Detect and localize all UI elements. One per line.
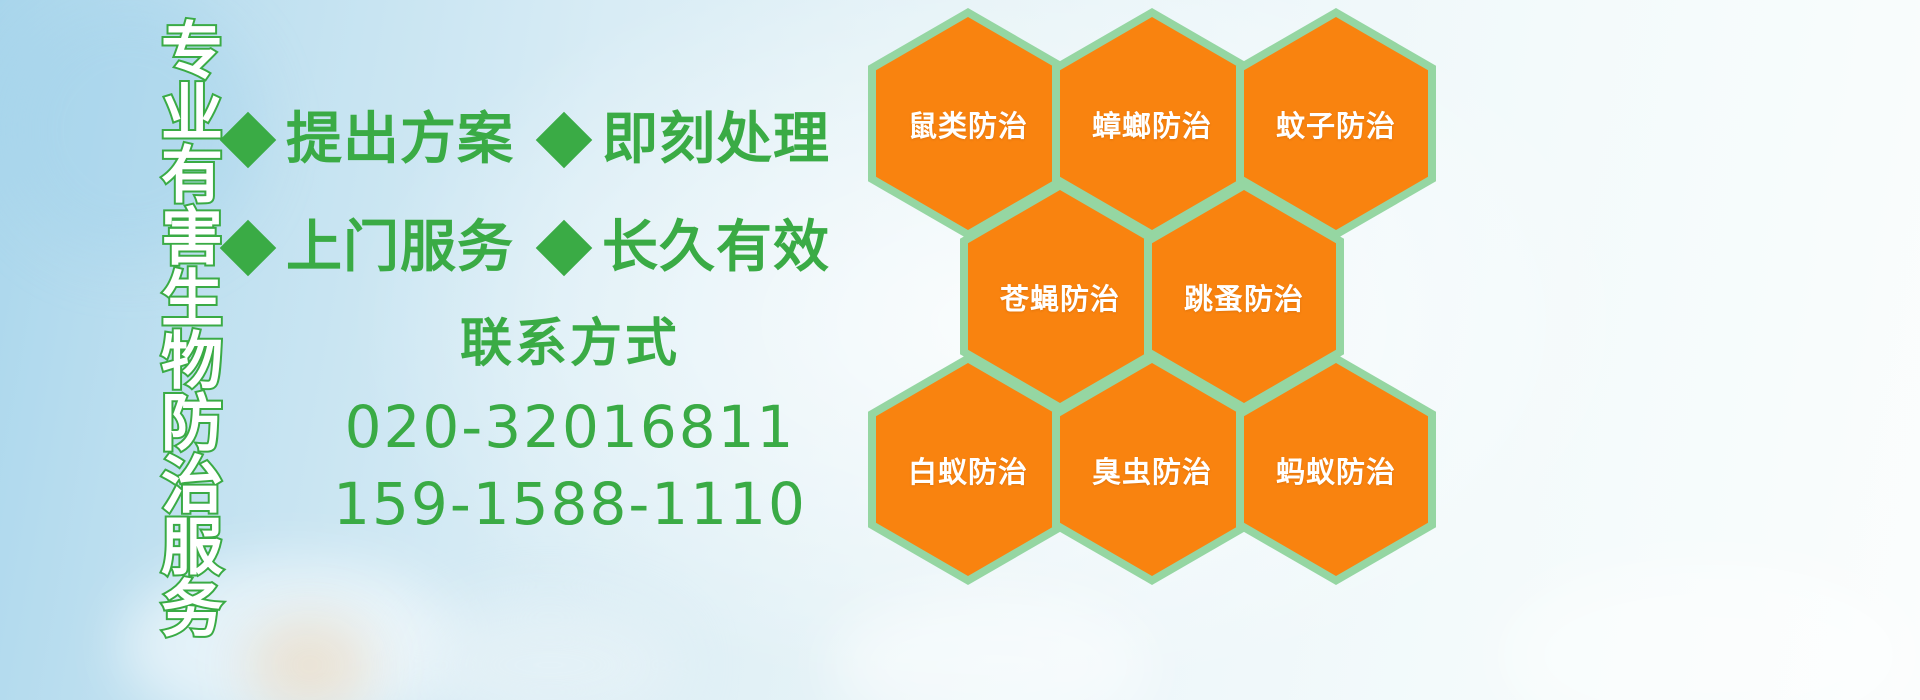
vertical-headline: 专业有害生物防治服务 — [110, 18, 218, 578]
hex-cell-bedbug-control[interactable]: 臭虫防治 — [1052, 354, 1252, 585]
feature-row: 上门服务 长久有效 — [228, 194, 868, 302]
diamond-icon — [536, 220, 593, 277]
hex-label: 跳蚤防治 — [1184, 276, 1304, 318]
feature-item-onsite-service: 上门服务 — [228, 220, 514, 276]
background-bokeh-blob — [250, 620, 370, 700]
feature-row: 提出方案 即刻处理 — [228, 86, 868, 194]
background-bokeh-blob — [1500, 560, 1920, 700]
contact-block: 联系方式 020-32016811 159-1588-1110 — [300, 316, 840, 542]
feature-label: 提出方案 — [286, 112, 514, 168]
feature-item-long-lasting: 长久有效 — [544, 220, 830, 276]
hex-label: 臭虫防治 — [1092, 449, 1212, 491]
background-bokeh-blob — [420, 600, 680, 700]
feature-list: 提出方案 即刻处理 上门服务 长久有效 — [228, 86, 868, 302]
hex-label: 蚂蚁防治 — [1276, 449, 1396, 491]
hex-label: 蟑螂防治 — [1092, 103, 1212, 145]
phone-number-landline[interactable]: 020-32016811 — [300, 389, 840, 466]
service-honeycomb-grid: 鼠类防治 蟑螂防治 蚊子防治 苍蝇防治 跳蚤防治 白蚁防治 — [860, 0, 1460, 566]
hex-cell-termite-control[interactable]: 白蚁防治 — [868, 354, 1068, 585]
feature-item-propose-plan: 提出方案 — [228, 112, 514, 168]
diamond-icon — [220, 220, 277, 277]
diamond-icon — [220, 112, 277, 169]
phone-number-mobile[interactable]: 159-1588-1110 — [300, 466, 840, 543]
feature-item-immediate-handling: 即刻处理 — [544, 112, 830, 168]
feature-label: 即刻处理 — [602, 112, 830, 168]
hex-label: 蚊子防治 — [1276, 103, 1396, 145]
hex-label: 鼠类防治 — [908, 103, 1028, 145]
feature-label: 长久有效 — [602, 220, 830, 276]
hex-cell-ant-control[interactable]: 蚂蚁防治 — [1236, 354, 1436, 585]
background-bokeh-blob — [830, 590, 1150, 700]
diamond-icon — [536, 112, 593, 169]
pest-control-banner: 专业有害生物防治服务 提出方案 即刻处理 上门服务 长久有效 联系方式 — [0, 0, 1920, 700]
hex-label: 白蚁防治 — [908, 449, 1028, 491]
hex-label: 苍蝇防治 — [1000, 276, 1120, 318]
contact-title: 联系方式 — [300, 316, 840, 373]
feature-label: 上门服务 — [286, 220, 514, 276]
